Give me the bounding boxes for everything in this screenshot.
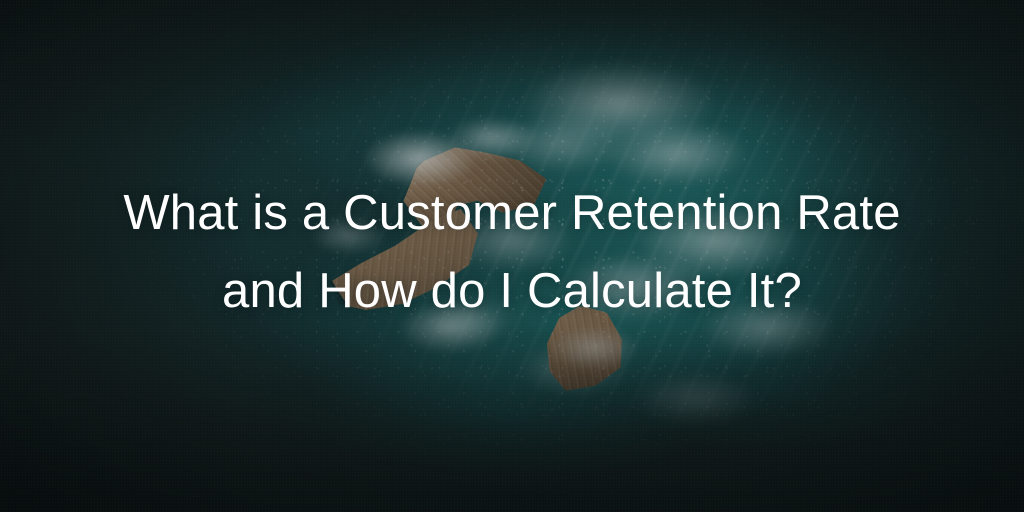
page-title: What is a Customer Retention Rate and Ho… xyxy=(0,174,1024,330)
hero-banner: What is a Customer Retention Rate and Ho… xyxy=(0,0,1024,512)
title-line-1: What is a Customer Retention Rate xyxy=(0,174,1024,252)
title-line-2: and How do I Calculate It? xyxy=(0,252,1024,330)
